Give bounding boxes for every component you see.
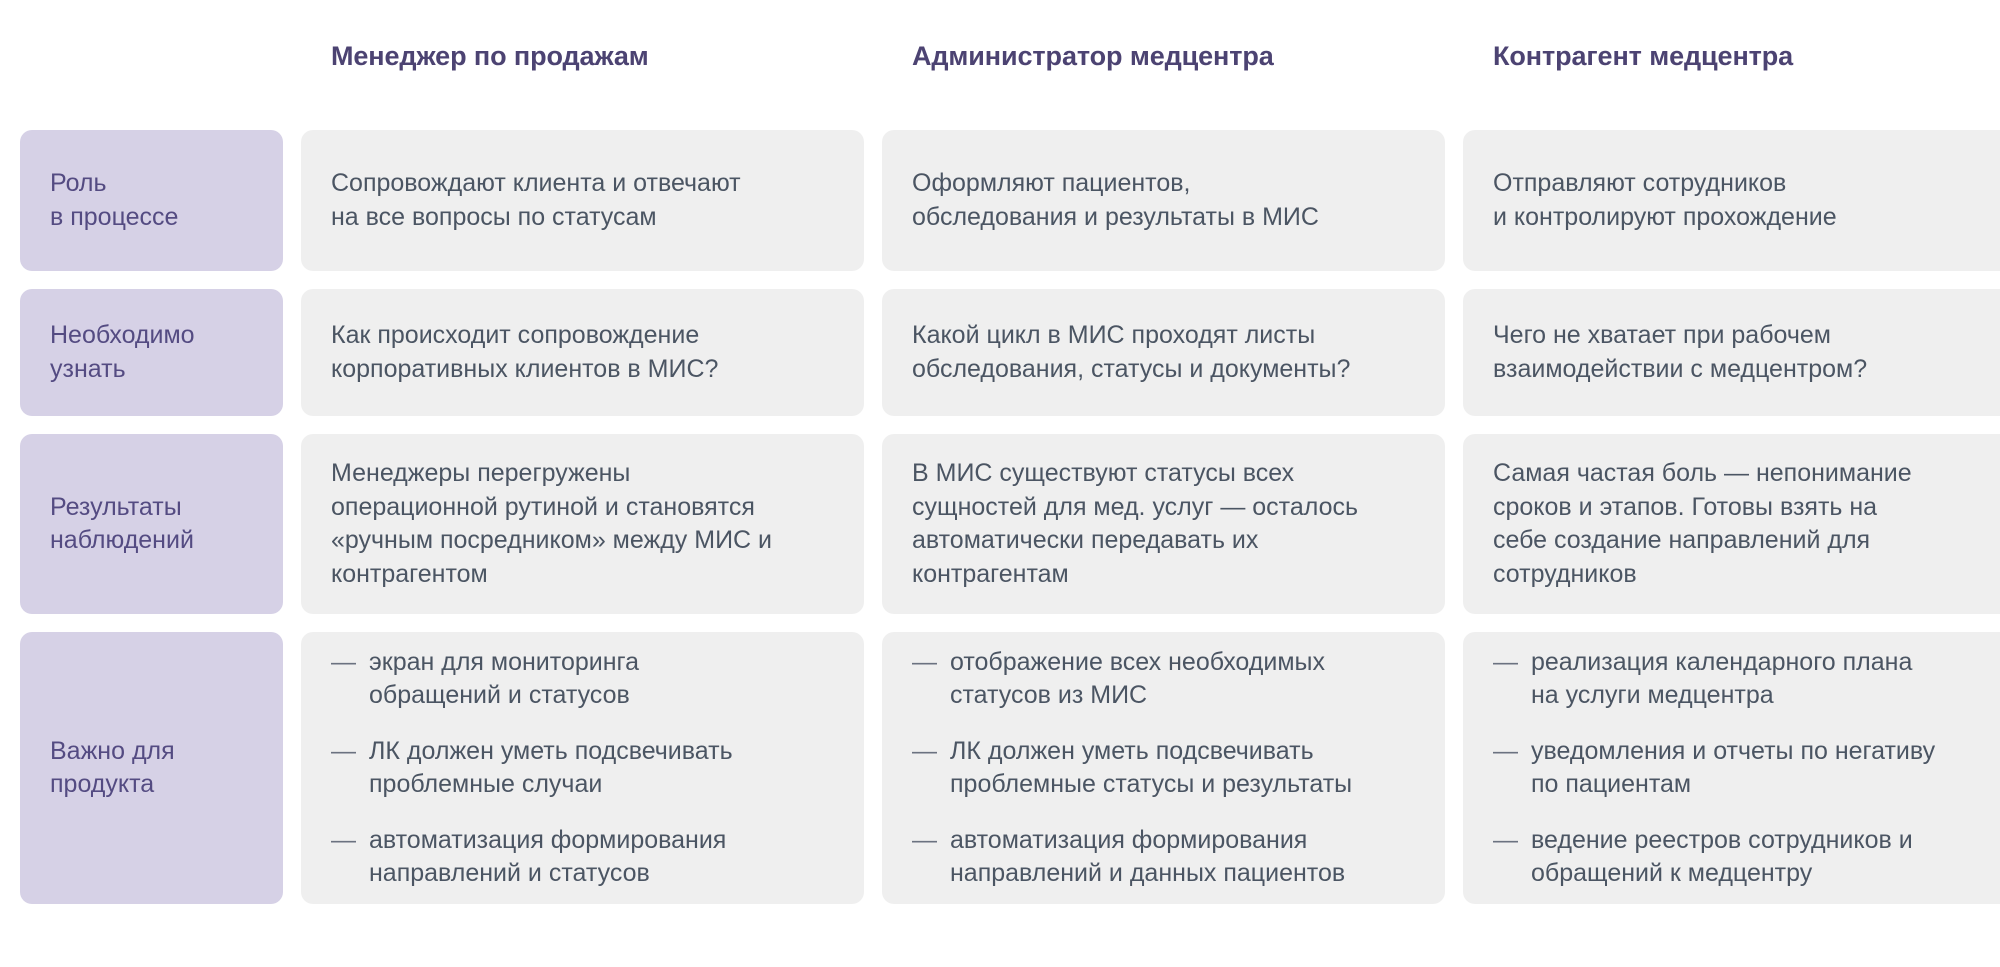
cell-observations-sales-manager: Менеджеры перегруженыоперационной рутино… [301, 434, 864, 614]
list-item: — ЛК должен уметь подсвечиватьпроблемные… [912, 735, 1415, 802]
row-label-observation-results: Результатынаблюдений [20, 434, 283, 614]
dash-bullet-icon: — [1493, 735, 1531, 802]
list-item-label: экран для мониторингаобращений и статусо… [369, 646, 834, 713]
list-item-label: реализация календарного планана услуги м… [1531, 646, 1986, 713]
cell-text: Сопровождают клиента и отвечаютна все во… [331, 167, 741, 234]
cell-text: Самая частая боль — непониманиесроков и … [1493, 457, 1912, 591]
cell-role-sales-manager: Сопровождают клиента и отвечаютна все во… [301, 130, 864, 271]
list-item-label: ведение реестров сотрудников иобращений … [1531, 824, 1986, 891]
cell-observations-medcenter-counterparty: Самая частая боль — непониманиесроков и … [1463, 434, 2000, 614]
cell-observations-medcenter-admin: В МИС существуют статусы всехсущностей д… [882, 434, 1445, 614]
column-header-medcenter-counterparty: Контрагент медцентра [1463, 0, 2000, 112]
dash-bullet-icon: — [912, 646, 950, 713]
list-item-label: ЛК должен уметь подсвечиватьпроблемные с… [369, 735, 834, 802]
row-label-role-in-process: Рольв процессе [20, 130, 283, 271]
dash-bullet-icon: — [912, 735, 950, 802]
bullet-list: — реализация календарного планана услуги… [1493, 646, 1986, 891]
list-item: — автоматизация формированиянаправлений … [331, 824, 834, 891]
cell-text: Как происходит сопровождениекорпоративны… [331, 319, 718, 386]
role-matrix-grid: Менеджер по продажам Администратор медце… [20, 0, 1980, 904]
list-item-label: автоматизация формированиянаправлений и … [950, 824, 1415, 891]
dash-bullet-icon: — [1493, 824, 1531, 891]
cell-product-medcenter-counterparty: — реализация календарного планана услуги… [1463, 632, 2000, 904]
list-item: — реализация календарного планана услуги… [1493, 646, 1986, 713]
cell-role-medcenter-counterparty: Отправляют сотрудникови контролируют про… [1463, 130, 2000, 271]
list-item-label: отображение всех необходимыхстатусов из … [950, 646, 1415, 713]
cell-need-medcenter-counterparty: Чего не хватает при рабочемвзаимодействи… [1463, 289, 2000, 416]
row-label-important-for-product: Важно дляпродукта [20, 632, 283, 904]
cell-text: В МИС существуют статусы всехсущностей д… [912, 457, 1358, 591]
list-item-label: уведомления и отчеты по негативупо пацие… [1531, 735, 1986, 802]
cell-need-medcenter-admin: Какой цикл в МИС проходят листыобследова… [882, 289, 1445, 416]
cell-text: Отправляют сотрудникови контролируют про… [1493, 167, 1837, 234]
header-corner-spacer [20, 0, 283, 112]
list-item: — ведение реестров сотрудников иобращени… [1493, 824, 1986, 891]
cell-text: Оформляют пациентов,обследования и резул… [912, 167, 1319, 234]
cell-product-sales-manager: — экран для мониторингаобращений и стату… [301, 632, 864, 904]
cell-text: Менеджеры перегруженыоперационной рутино… [331, 457, 772, 591]
row-label-need-to-learn: Необходимоузнать [20, 289, 283, 416]
list-item: — уведомления и отчеты по негативупо пац… [1493, 735, 1986, 802]
dash-bullet-icon: — [331, 824, 369, 891]
list-item: — экран для мониторингаобращений и стату… [331, 646, 834, 713]
column-header-medcenter-admin: Администратор медцентра [882, 0, 1445, 112]
role-matrix-board: Менеджер по продажам Администратор медце… [0, 0, 2000, 967]
column-header-sales-manager: Менеджер по продажам [301, 0, 864, 112]
cell-product-medcenter-admin: — отображение всех необходимыхстатусов и… [882, 632, 1445, 904]
dash-bullet-icon: — [1493, 646, 1531, 713]
cell-role-medcenter-admin: Оформляют пациентов,обследования и резул… [882, 130, 1445, 271]
dash-bullet-icon: — [331, 646, 369, 713]
dash-bullet-icon: — [912, 824, 950, 891]
list-item: — ЛК должен уметь подсвечиватьпроблемные… [331, 735, 834, 802]
list-item: — автоматизация формированиянаправлений … [912, 824, 1415, 891]
list-item-label: автоматизация формированиянаправлений и … [369, 824, 834, 891]
bullet-list: — отображение всех необходимыхстатусов и… [912, 646, 1415, 891]
cell-text: Чего не хватает при рабочемвзаимодействи… [1493, 319, 1867, 386]
list-item-label: ЛК должен уметь подсвечиватьпроблемные с… [950, 735, 1415, 802]
list-item: — отображение всех необходимыхстатусов и… [912, 646, 1415, 713]
bullet-list: — экран для мониторингаобращений и стату… [331, 646, 834, 891]
cell-need-sales-manager: Как происходит сопровождениекорпоративны… [301, 289, 864, 416]
cell-text: Какой цикл в МИС проходят листыобследова… [912, 319, 1350, 386]
dash-bullet-icon: — [331, 735, 369, 802]
